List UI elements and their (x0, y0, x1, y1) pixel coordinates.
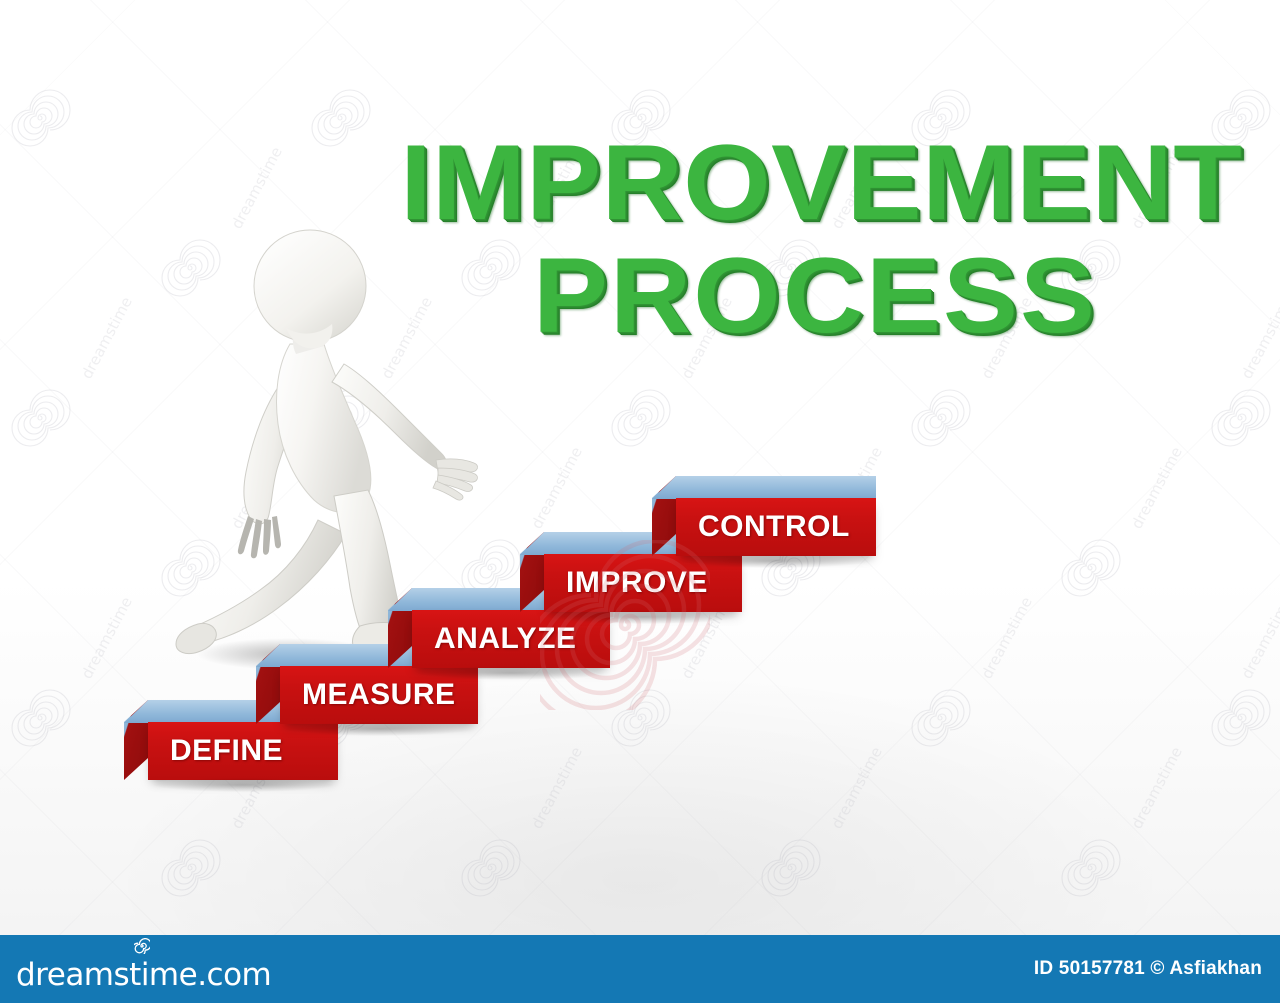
step-analyze-label: ANALYZE (412, 622, 576, 656)
dreamstime-spiral-icon (134, 938, 150, 954)
figure-rear-hand (238, 516, 281, 558)
headline-title: IMPROVEMENT PROCESS (420, 132, 1210, 345)
step-control-shadow (682, 554, 870, 568)
watermark-footer-bar: dreamstime.com ID 50157781 © Asfiakhan (0, 935, 1280, 1003)
title-line-1: IMPROVEMENT (400, 132, 1230, 233)
step-analyze-shadow (418, 666, 604, 680)
step-control-label: CONTROL (676, 510, 850, 544)
step-define-shadow (154, 778, 333, 792)
step-define-label: DEFINE (148, 734, 283, 768)
figure-torso (277, 344, 371, 512)
step-control-top (652, 476, 876, 499)
dreamstime-logo-text: dreamstime.com (16, 960, 271, 991)
scene-background: dreamstime IMPROVEMENT PROCES (0, 0, 1280, 935)
step-measure-shadow (286, 722, 472, 736)
title-line-2: PROCESS (400, 245, 1230, 346)
image-credit: ID 50157781 © Asfiakhan (1034, 958, 1262, 980)
step-improve-label: IMPROVE (544, 566, 708, 600)
step-control-face: CONTROL (676, 498, 876, 556)
figure-head (254, 230, 366, 342)
dreamstime-logo[interactable]: dreamstime.com (16, 951, 271, 991)
image-canvas: dreamstime IMPROVEMENT PROCES (0, 0, 1280, 1003)
figure-front-hand (433, 459, 478, 500)
step-measure-label: MEASURE (280, 678, 456, 712)
step-improve-shadow (550, 610, 736, 624)
